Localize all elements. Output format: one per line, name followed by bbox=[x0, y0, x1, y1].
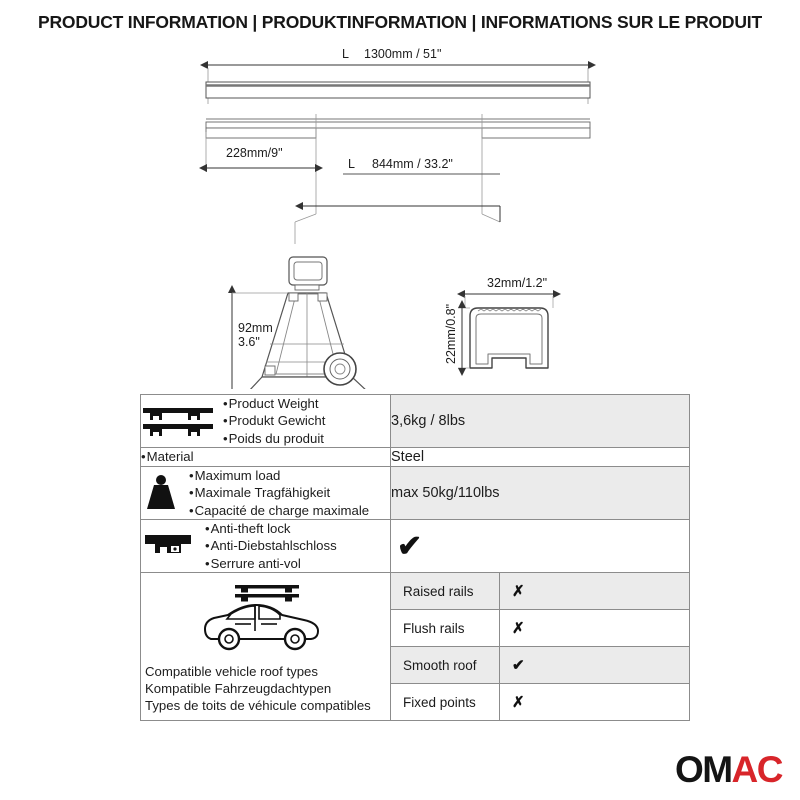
profile-height-value: 22mm/0.8" bbox=[444, 304, 458, 364]
label-line: Capacité de charge maximale bbox=[189, 502, 369, 519]
foot-height-in: 3.6" bbox=[238, 335, 260, 349]
row-value-product-weight: 3,6kg / 8lbs bbox=[391, 395, 690, 448]
label-line: Anti-theft lock bbox=[205, 520, 337, 537]
lock-icon bbox=[141, 531, 197, 561]
row-label-texts: Product Weight Produkt Gewicht Poids du … bbox=[223, 395, 325, 447]
profile-width-value: 32mm/1.2" bbox=[487, 276, 547, 290]
weight-icon bbox=[141, 474, 181, 512]
logo-part-om: OM bbox=[675, 749, 732, 790]
logo-part-ac: AC bbox=[732, 749, 782, 790]
car-with-rack-icon bbox=[141, 579, 390, 657]
table-row: Compatible vehicle roof types Kompatible… bbox=[141, 573, 690, 721]
row-label-texts: Anti-theft lock Anti-Diebstahlschloss Se… bbox=[205, 520, 337, 572]
span-symbol: L bbox=[348, 157, 355, 171]
row-label-material: Material bbox=[141, 448, 391, 466]
label-line: Kompatible Fahrzeugdachtypen bbox=[145, 680, 390, 697]
row-label-texts: Maximum load Maximale Tragfähigkeit Capa… bbox=[189, 467, 369, 519]
roof-type-name: Raised rails bbox=[391, 573, 500, 610]
roof-types-table: Raised rails ✗ Flush rails ✗ Smooth roof… bbox=[391, 573, 689, 720]
end-offset-value: 228mm/9" bbox=[226, 146, 283, 160]
row-value-anti-theft-lock: ✔ bbox=[391, 519, 690, 572]
end-offset-dimension: 228mm/9" bbox=[207, 146, 315, 168]
label-line: Produkt Gewicht bbox=[223, 412, 325, 429]
label-line: Maximum load bbox=[189, 467, 369, 484]
span-dimension: L 844mm / 33.2" bbox=[295, 157, 500, 244]
roof-type-row: Flush rails ✗ bbox=[391, 610, 689, 647]
roof-type-support: ✗ bbox=[500, 573, 690, 610]
label-line: Compatible vehicle roof types bbox=[145, 663, 390, 680]
length-symbol-top: L bbox=[342, 47, 349, 61]
roof-type-name: Flush rails bbox=[391, 610, 500, 647]
drawings-svg: L 1300mm / 51" 228mm/9" L bbox=[0, 44, 800, 389]
row-label-maximum-load: Maximum load Maximale Tragfähigkeit Capa… bbox=[141, 466, 391, 519]
profile-cross-section: 32mm/1.2" 22mm/0.8" bbox=[444, 276, 553, 368]
roof-type-row: Raised rails ✗ bbox=[391, 573, 689, 610]
compat-label-texts: Compatible vehicle roof types Kompatible… bbox=[141, 663, 390, 715]
page-title: PRODUCT INFORMATION | PRODUKTINFORMATION… bbox=[0, 12, 800, 33]
roof-type-support: ✗ bbox=[500, 610, 690, 647]
label-line: Anti-Diebstahlschloss bbox=[205, 537, 337, 554]
span-value: 844mm / 33.2" bbox=[372, 157, 453, 171]
technical-drawings: L 1300mm / 51" 228mm/9" L bbox=[0, 44, 800, 389]
omac-logo: OMAC bbox=[675, 751, 782, 788]
check-icon: ✔ bbox=[391, 530, 422, 562]
crossbar-top-view bbox=[206, 82, 590, 98]
roof-type-support: ✔ bbox=[500, 647, 690, 684]
label-line: Material bbox=[141, 449, 194, 464]
label-line: Product Weight bbox=[223, 395, 325, 412]
cross-icon: ✗ bbox=[512, 620, 525, 637]
roof-type-row: Smooth roof ✔ bbox=[391, 647, 689, 684]
table-row: Product Weight Produkt Gewicht Poids du … bbox=[141, 395, 690, 448]
label-line: Serrure anti-vol bbox=[205, 555, 337, 572]
table-row: Material Steel bbox=[141, 448, 690, 466]
row-label-product-weight: Product Weight Produkt Gewicht Poids du … bbox=[141, 395, 391, 448]
row-value-maximum-load: max 50kg/110lbs bbox=[391, 466, 690, 519]
row-label-compatible-roof-types: Compatible vehicle roof types Kompatible… bbox=[141, 573, 391, 721]
roof-type-name: Smooth roof bbox=[391, 647, 500, 684]
row-label-anti-theft-lock: Anti-theft lock Anti-Diebstahlschloss Se… bbox=[141, 519, 391, 572]
roof-types-cell: Raised rails ✗ Flush rails ✗ Smooth roof… bbox=[391, 573, 690, 721]
foot-height-mm: 92mm bbox=[238, 321, 273, 335]
row-value-material: Steel bbox=[391, 448, 690, 466]
roof-type-name: Fixed points bbox=[391, 684, 500, 721]
table-row: Maximum load Maximale Tragfähigkeit Capa… bbox=[141, 466, 690, 519]
roof-type-support: ✗ bbox=[500, 684, 690, 721]
cross-icon: ✗ bbox=[512, 583, 525, 600]
crossbars-icon bbox=[141, 403, 215, 439]
label-line: Poids du produit bbox=[223, 430, 325, 447]
roof-type-row: Fixed points ✗ bbox=[391, 684, 689, 721]
label-line: Types de toits de véhicule compatibles bbox=[145, 697, 390, 714]
label-line: Maximale Tragfähigkeit bbox=[189, 484, 369, 501]
table-row: Anti-theft lock Anti-Diebstahlschloss Se… bbox=[141, 519, 690, 572]
specifications-table: Product Weight Produkt Gewicht Poids du … bbox=[140, 394, 690, 721]
overall-length-value: 1300mm / 51" bbox=[364, 47, 441, 61]
check-icon: ✔ bbox=[512, 657, 525, 674]
cross-icon: ✗ bbox=[512, 694, 525, 711]
